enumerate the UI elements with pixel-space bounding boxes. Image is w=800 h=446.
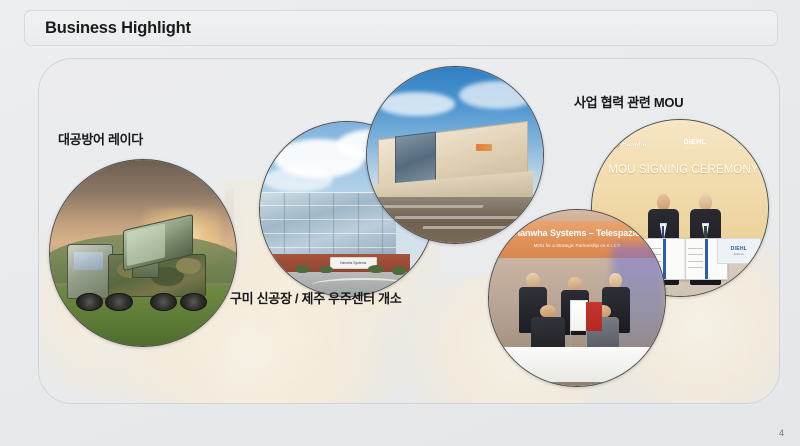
photo-air-defense-radar[interactable] — [49, 159, 237, 347]
diehl-logo: DIEHL Defence — [684, 139, 707, 150]
radar-vehicle — [67, 227, 216, 313]
wheel-1 — [76, 293, 103, 311]
wheel-4 — [180, 293, 207, 311]
telespazio-banner-title: Hanwha Systems – Telespazio — [489, 228, 665, 238]
camo-patch-3 — [176, 258, 201, 274]
caption-gumi-plant-jeju-center: 구미 신공장 / 제주 우주센터 개소 — [230, 288, 401, 307]
caption-air-defense-radar: 대공방어 레이다 — [58, 129, 143, 148]
radar-antenna-face — [127, 223, 165, 266]
hanwha-flower-icon — [613, 141, 620, 148]
slide: Business Highlight — [0, 0, 800, 446]
page-title: Business Highlight — [45, 19, 191, 38]
photo-mou-signing-telespazio[interactable]: Hanwha Systems – Telespazio MOU for a St… — [488, 209, 666, 387]
diehl-logo-subtext: Defence — [684, 146, 707, 150]
diehl-logo-text: DIEHL — [684, 139, 707, 146]
document-spine — [705, 239, 707, 279]
wheel-3 — [150, 293, 177, 311]
bush-4 — [392, 266, 406, 276]
caption-business-cooperation-mou: 사업 협력 관련 MOU — [574, 92, 683, 111]
person-head — [540, 305, 556, 318]
truck-window — [74, 252, 103, 270]
plant-logo-mark — [476, 144, 492, 151]
mou-banner-title: MOU SIGNING CEREMONY — [599, 164, 768, 176]
plant-cloud-1 — [378, 92, 455, 117]
plant-cloud-2 — [459, 81, 536, 109]
plant-walkway-1 — [373, 205, 484, 208]
person-head — [609, 273, 623, 287]
page-number: 4 — [779, 428, 784, 438]
truck-cab — [67, 244, 114, 299]
signing-table — [493, 347, 662, 382]
hanwha-logo-text: Hanwha — [622, 142, 646, 148]
slide-title-bar: Business Highlight — [24, 10, 778, 46]
bush-3 — [368, 265, 384, 274]
placard-subtitle: Defence — [734, 252, 744, 256]
flag-italy — [586, 302, 602, 332]
bush-2 — [319, 266, 333, 274]
wheel-2 — [105, 293, 132, 311]
office-sign-text: Hanwha Systems — [340, 261, 366, 265]
person-head — [526, 273, 540, 287]
diehl-placard: DIEHL Defence — [717, 238, 761, 265]
person-head — [568, 277, 582, 291]
hanwha-logo: Hanwha — [613, 141, 646, 148]
cloud-3 — [263, 167, 333, 191]
